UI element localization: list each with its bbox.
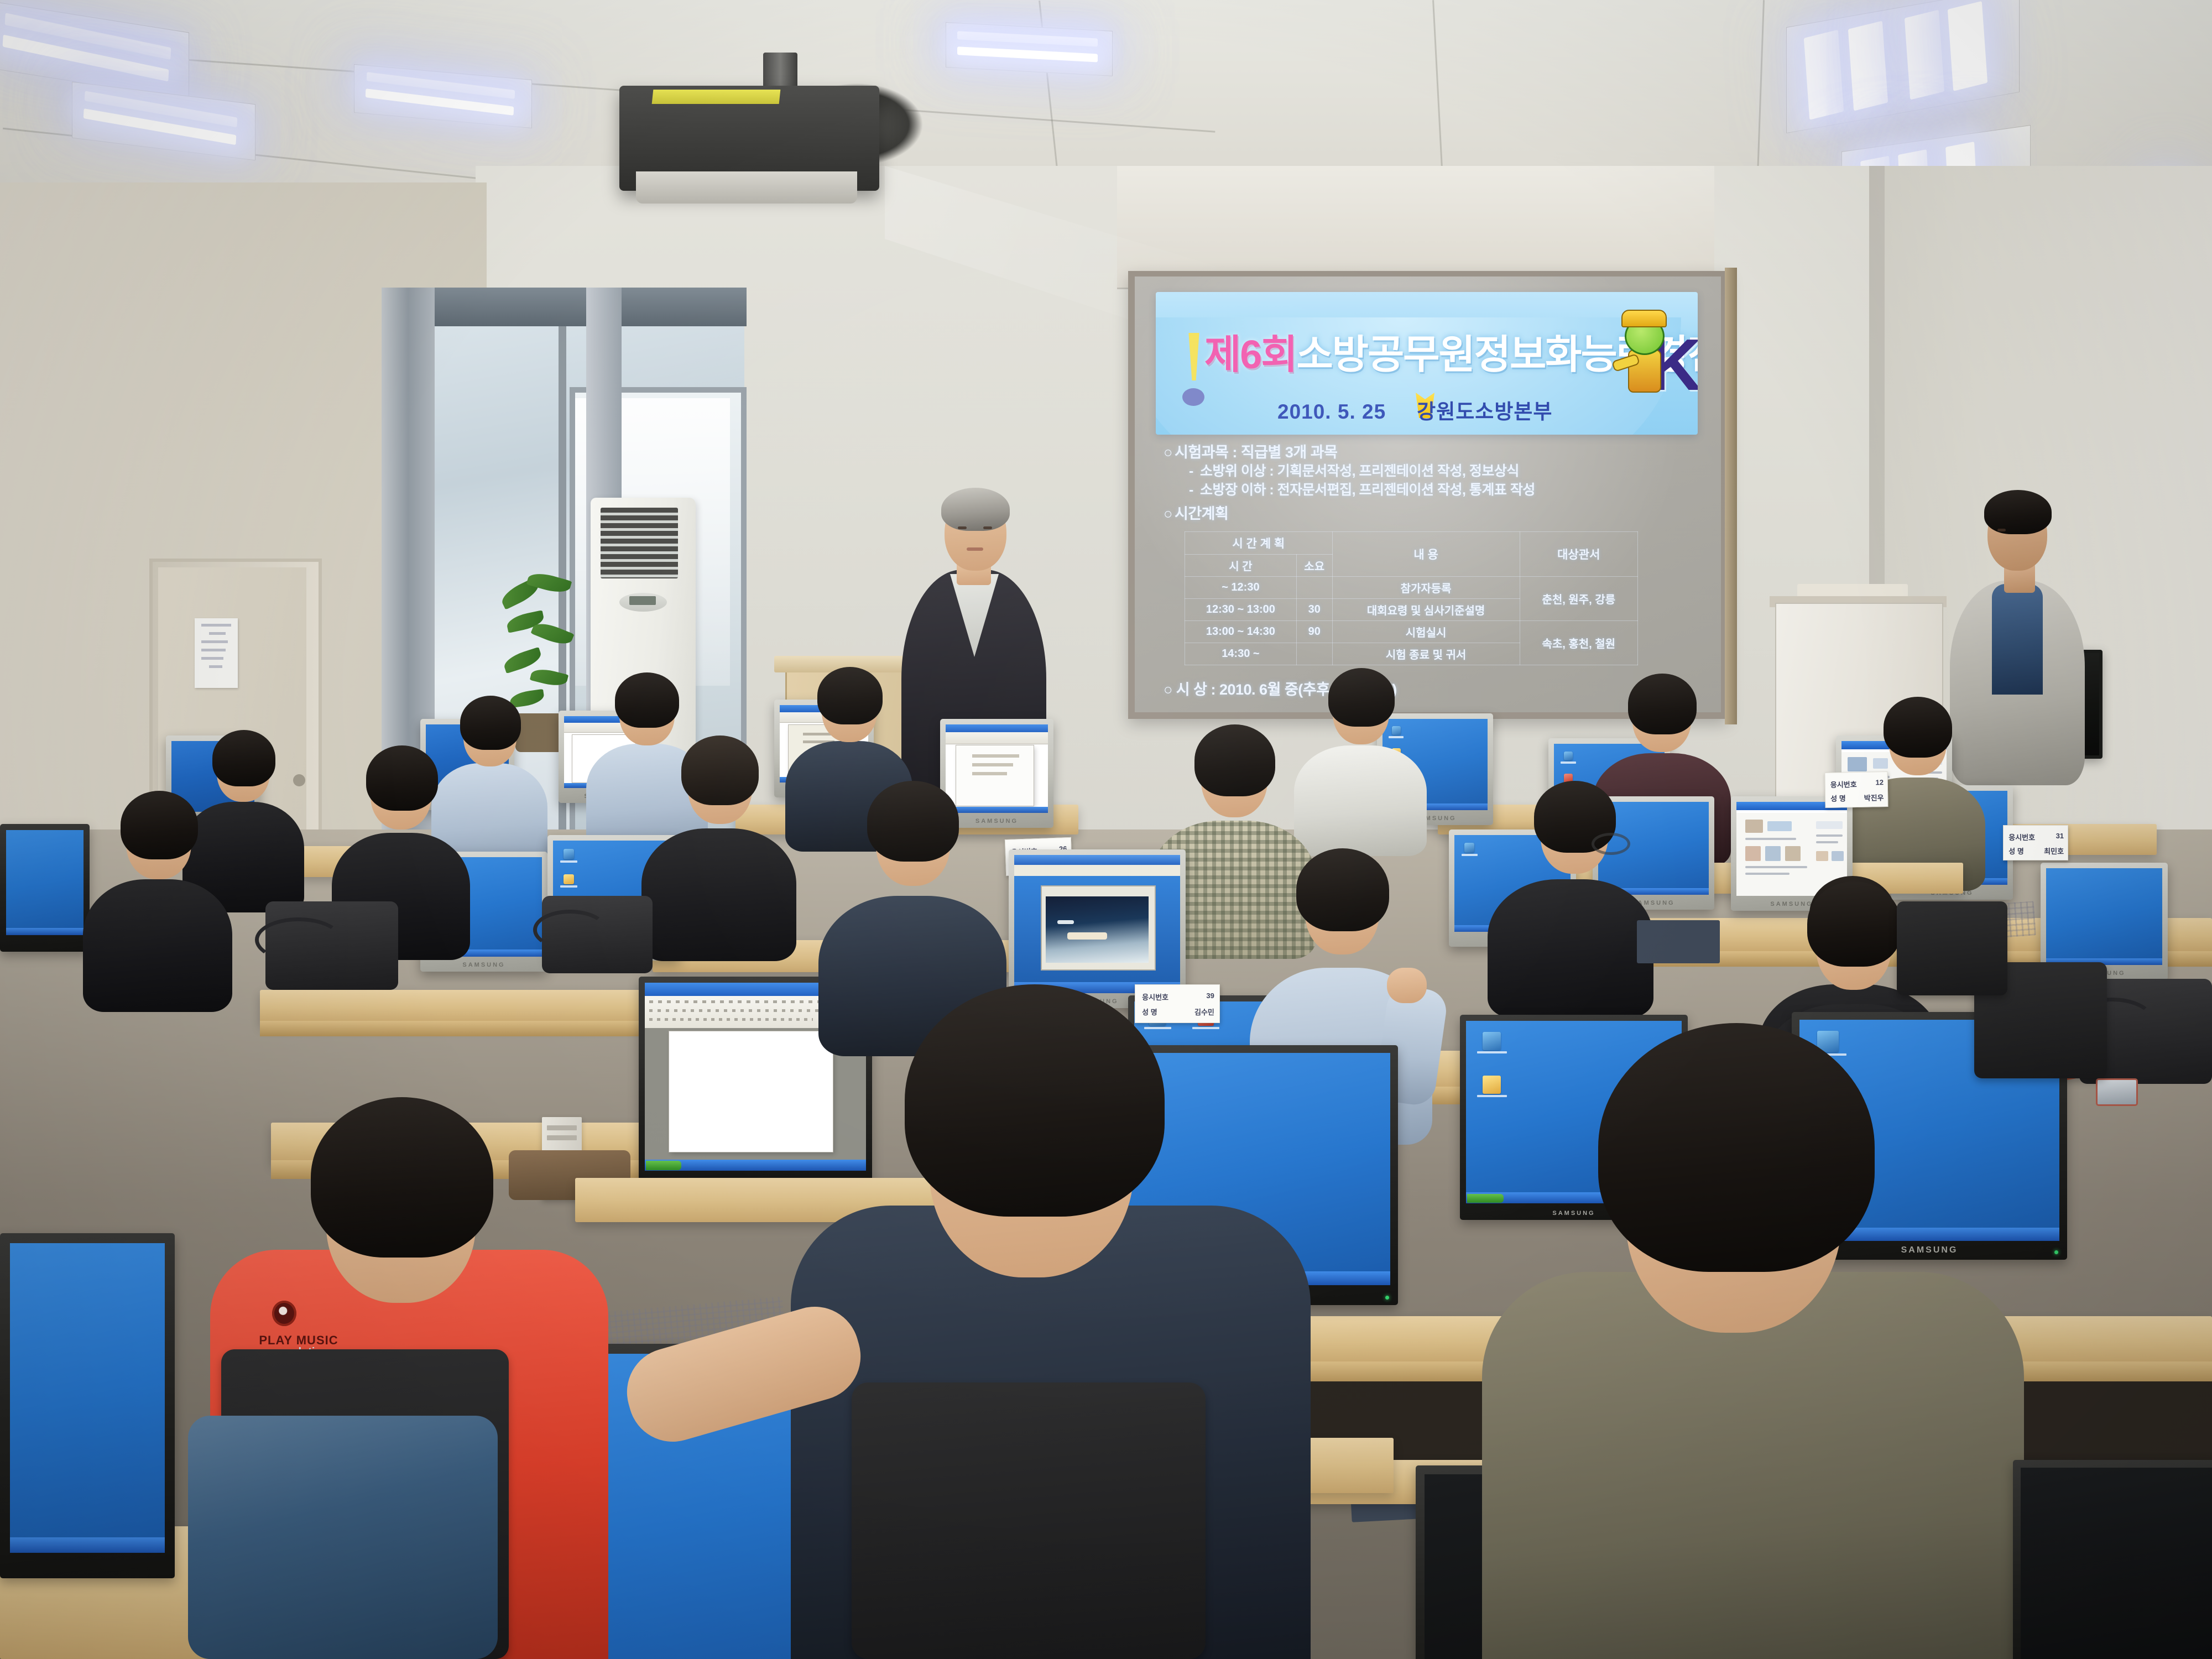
- monitor-brand: SAMSUNG: [420, 962, 547, 968]
- fluorescent-tube: [957, 31, 1098, 46]
- fluorescent-tube: [1905, 10, 1944, 100]
- ceiling-light-housing: [354, 64, 532, 128]
- label-exam-number: 응시번호: [1830, 779, 1857, 790]
- staff-shirt: [1992, 584, 2043, 695]
- foreground-person-olive: [1482, 1012, 2024, 1659]
- cell-time: 12:30 ~ 13:00: [1185, 599, 1297, 621]
- label-exam-number: 응시번호: [2008, 832, 2035, 842]
- person-hair: [1807, 881, 1901, 967]
- projector-lens-housing: [636, 171, 857, 204]
- monitor-screen: [2021, 1468, 2212, 1659]
- value-name: 박진우: [1864, 792, 1884, 803]
- window-header: [382, 288, 747, 326]
- fluorescent-tube: [1948, 1, 1987, 91]
- presenter-hair: [941, 488, 1010, 531]
- bullet-text: 시험과목 : 직급별 3개 과목: [1175, 444, 1337, 461]
- name-card-row: 응시번호31: [2008, 832, 2064, 842]
- slide-banner-ordinal: 제6회: [1204, 333, 1297, 377]
- eyeglasses: [1592, 833, 1630, 855]
- cell-duration: 90: [1296, 621, 1332, 643]
- label-name: 성 명: [2008, 846, 2024, 856]
- person-hair: [311, 1097, 493, 1258]
- chair[interactable]: [852, 1383, 1206, 1659]
- projection-screen: 제6회소방공무원정보화능력경진대회 2010. 5. 25강원도소방본부 K9 …: [1135, 276, 1721, 712]
- schedule-col-time: 시 간: [1185, 555, 1297, 577]
- slide-organization: 강원도소방본부: [1417, 400, 1552, 423]
- fluorescent-tube: [1848, 21, 1888, 111]
- value-exam-number: 12: [1875, 778, 1884, 789]
- person-hair: [366, 745, 438, 811]
- name-card-row: 성 명박진우: [1830, 792, 1884, 804]
- monitor[interactable]: [0, 1233, 175, 1578]
- shoulder-bag: [542, 896, 653, 973]
- fluorescent-tube: [957, 46, 1098, 62]
- fluorescent-tube: [1804, 30, 1844, 120]
- label-name: 성 명: [1830, 792, 1846, 803]
- name-card: 응시번호12 성 명박진우: [1824, 771, 1888, 808]
- cell-content: 참가자등록: [1332, 577, 1520, 599]
- air-conditioner-display: [629, 596, 656, 605]
- bullet-marker: -: [1189, 462, 1200, 481]
- mouse-pad: [1637, 920, 1720, 963]
- presenter-eye: [983, 526, 992, 529]
- bullet-text: 시간계획: [1175, 505, 1228, 522]
- shoulder-bag: [265, 901, 398, 990]
- seated-person: [641, 719, 796, 957]
- cell-duration: [1296, 577, 1332, 599]
- person-hair: [867, 781, 959, 862]
- mobile-phone[interactable]: [2096, 1078, 2138, 1106]
- slide-date: 2010. 5. 25: [1277, 400, 1386, 423]
- cell-content: 대회요령 및 심사기준설명: [1332, 599, 1520, 621]
- monitor[interactable]: [2013, 1460, 2212, 1659]
- desk-edge: [260, 1021, 664, 1036]
- person-hair: [681, 735, 759, 805]
- name-card-row: 성 명최민호: [2008, 846, 2064, 856]
- mascot-graphic: K9: [1620, 304, 1698, 420]
- table-row: ~ 12:30 참가자등록 춘천, 원주, 강릉: [1185, 577, 1638, 599]
- monitor-screen: [2046, 868, 2162, 965]
- cell-time: 14:30 ~: [1185, 643, 1297, 665]
- bullet-marker: -: [1189, 481, 1200, 500]
- monitor-screen: [1014, 855, 1180, 993]
- draped-jacket: [188, 1416, 498, 1659]
- cell-duration: 30: [1296, 599, 1332, 621]
- cell-time: 13:00 ~ 14:30: [1185, 621, 1297, 643]
- schedule-group-header: 시 간 계 획: [1185, 532, 1333, 555]
- person-hair: [121, 791, 198, 859]
- cell-office: 춘천, 원주, 강릉: [1520, 577, 1637, 621]
- bullet-marker: ○: [1164, 442, 1175, 462]
- slide-bullet-row: ○시험과목 : 직급별 3개 과목: [1164, 442, 1694, 462]
- cabinet-top-items: [1797, 584, 1908, 597]
- table-header-row: 시 간 계 획 내 용 대상관서: [1185, 532, 1638, 555]
- ceiling-light-housing: [1786, 0, 2020, 133]
- bullet-marker: ○: [1164, 504, 1175, 524]
- slide-bullet-row: -소방장 이하 : 전자문서편집, 프리젠테이션 작성, 통계표 작성: [1164, 481, 1694, 500]
- person-hair: [1884, 697, 1952, 758]
- schedule-col-office: 대상관서: [1520, 532, 1637, 577]
- staff-hair: [1984, 490, 2052, 534]
- cell-content: 시험실시: [1332, 621, 1520, 643]
- person-hair: [1194, 724, 1275, 796]
- person-hair: [905, 984, 1165, 1217]
- monitor-screen: [6, 830, 84, 935]
- tshirt-line-1: PLAY MUSIC: [232, 1334, 365, 1347]
- ceiling-light-housing: [946, 22, 1113, 76]
- door-notice-paper: [195, 618, 238, 688]
- bullet-text: 소방장 이하 : 전자문서편집, 프리젠테이션 작성, 통계표 작성: [1200, 482, 1535, 498]
- person-hair: [817, 667, 883, 724]
- desk: [260, 990, 664, 1024]
- staff-eye: [1997, 529, 2006, 531]
- name-card-row: 응시번호12: [1830, 778, 1884, 790]
- person-hand: [1387, 968, 1427, 1003]
- slide-banner-subline: 2010. 5. 25강원도소방본부: [1277, 395, 1587, 425]
- value-name: 최민호: [2044, 846, 2064, 856]
- mascot-helmet-icon: [1621, 310, 1667, 327]
- person-torso: [83, 879, 232, 1012]
- person-hair: [1598, 1023, 1875, 1272]
- ceiling-light-housing: [72, 82, 255, 161]
- slide-bullet-row: ○시간계획: [1164, 504, 1694, 524]
- schedule-table: 시 간 계 획 내 용 대상관서 시 간 소요 ~ 12:30 참가자등록 춘천…: [1185, 531, 1638, 665]
- air-conditioner-grille: [601, 508, 678, 578]
- value-exam-number: 31: [2056, 832, 2064, 842]
- person-torso: [641, 828, 796, 961]
- bullet-text: 소방위 이상 : 기획문서작성, 프리젠테이션 작성, 정보상식: [1200, 463, 1519, 479]
- slide-banner: 제6회소방공무원정보화능력경진대회 2010. 5. 25강원도소방본부 K9: [1156, 292, 1698, 435]
- person-hair: [1296, 848, 1389, 931]
- seated-person: [1488, 763, 1653, 1012]
- cell-time: ~ 12:30: [1185, 577, 1297, 599]
- slide-banner-title: 제6회소방공무원정보화능력경진대회: [1204, 322, 1614, 380]
- projector-label-stripe: [652, 90, 781, 104]
- person-hair: [1328, 668, 1395, 727]
- presenter-mouth: [967, 547, 983, 551]
- schedule-col-content: 내 용: [1332, 532, 1520, 577]
- name-card: 응시번호31 성 명최민호: [2003, 825, 2068, 860]
- classroom-scene: 제6회소방공무원정보화능력경진대회 2010. 5. 25강원도소방본부 K9 …: [0, 0, 2212, 1659]
- monitor-screen: [10, 1243, 165, 1553]
- person-torso: [1488, 879, 1653, 1018]
- monitor[interactable]: [0, 824, 90, 952]
- slide-bullet-row: -소방위 이상 : 기획문서작성, 프리젠테이션 작성, 정보상식: [1164, 462, 1694, 481]
- presenter-eye: [958, 526, 967, 529]
- table-row: 13:00 ~ 14:30 90 시험실시 속초, 홍천, 철원: [1185, 621, 1638, 643]
- schedule-col-duration: 소요: [1296, 555, 1332, 577]
- chair[interactable]: [1897, 901, 2007, 995]
- person-hair: [1628, 674, 1697, 734]
- seated-person: [83, 774, 232, 1006]
